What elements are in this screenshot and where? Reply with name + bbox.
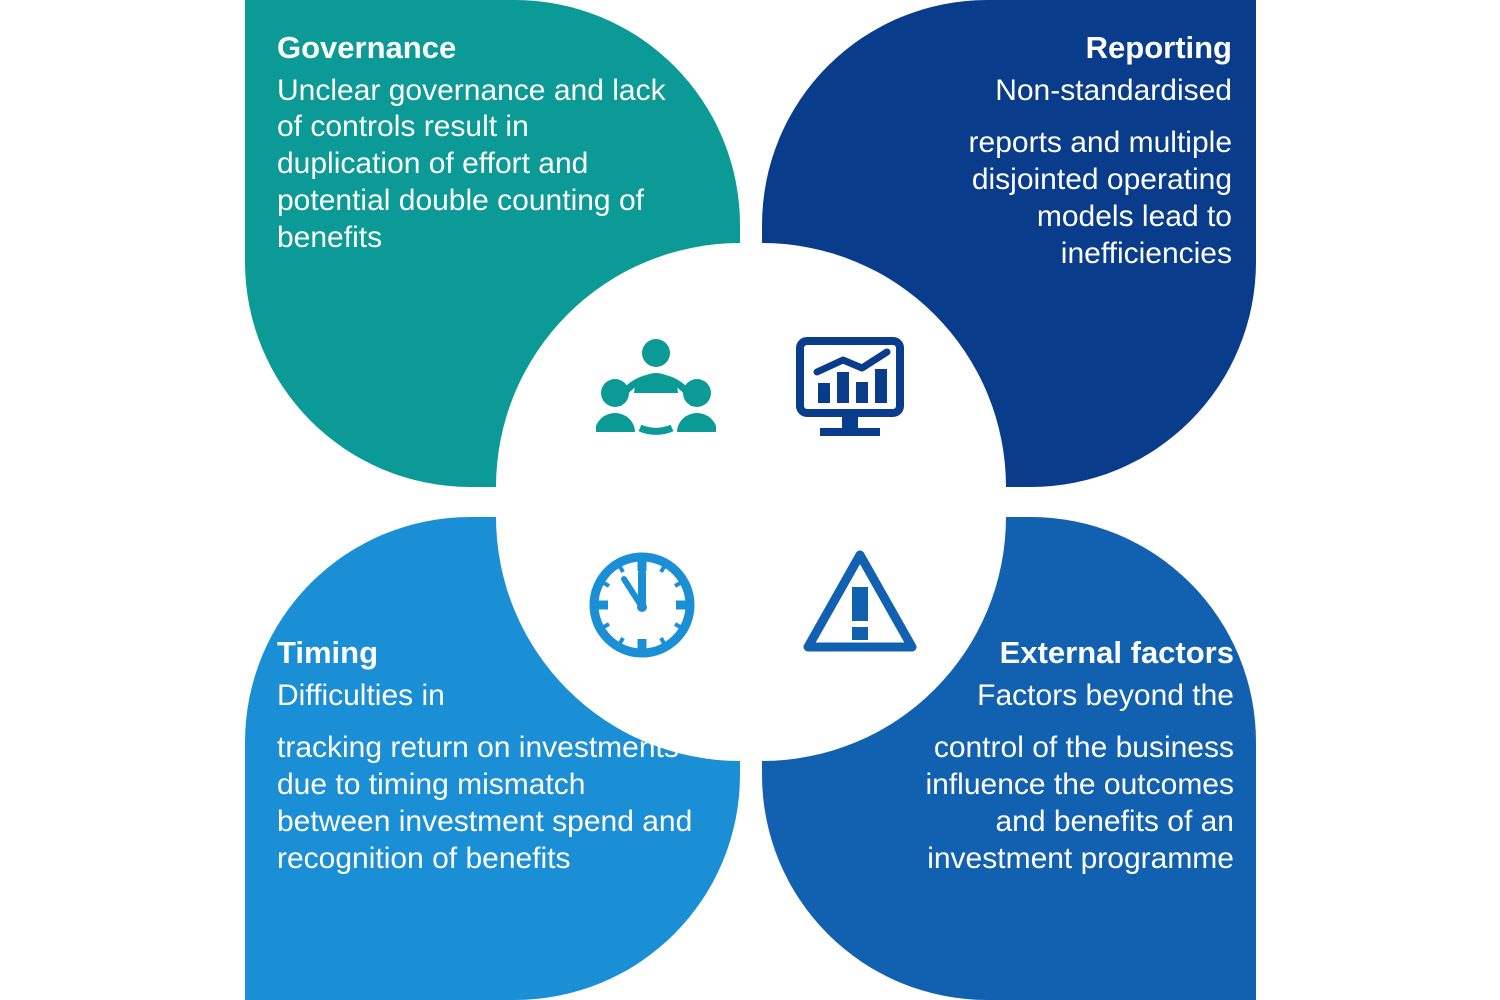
quadrant-timing[interactable]: Timing Difficulties intracking return on…: [245, 517, 740, 1000]
quadrant-reporting-text: Reporting Non-standardisedreports and mu…: [902, 30, 1232, 273]
quadrant-timing-title: Timing: [277, 635, 707, 672]
quadrant-reporting-title: Reporting: [902, 30, 1232, 67]
diagram-canvas: Governance Unclear governance and lack o…: [0, 0, 1500, 1000]
quadrant-governance-text: Governance Unclear governance and lack o…: [277, 30, 677, 257]
quadrant-reporting[interactable]: Reporting Non-standardisedreports and mu…: [762, 0, 1256, 487]
monitor-bar-chart-icon: [790, 327, 910, 447]
quadrant-external-factors[interactable]: External factors Factors beyond thecontr…: [762, 517, 1256, 1000]
quadrant-external-factors-description: Factors beyond thecontrol of the busines…: [886, 678, 1234, 878]
quadrant-governance[interactable]: Governance Unclear governance and lack o…: [245, 0, 740, 487]
quadrant-external-factors-title: External factors: [886, 635, 1234, 672]
quadrant-timing-description: Difficulties intracking return on invest…: [277, 678, 707, 878]
quadrant-external-factors-text: External factors Factors beyond thecontr…: [886, 635, 1234, 878]
quadrant-governance-description: Unclear governance and lack of controls …: [277, 73, 677, 257]
quadrant-governance-title: Governance: [277, 30, 677, 67]
people-network-icon: [596, 331, 716, 451]
quadrant-reporting-description: Non-standardisedreports and multiple dis…: [902, 73, 1232, 273]
quadrant-timing-text: Timing Difficulties intracking return on…: [277, 635, 707, 878]
